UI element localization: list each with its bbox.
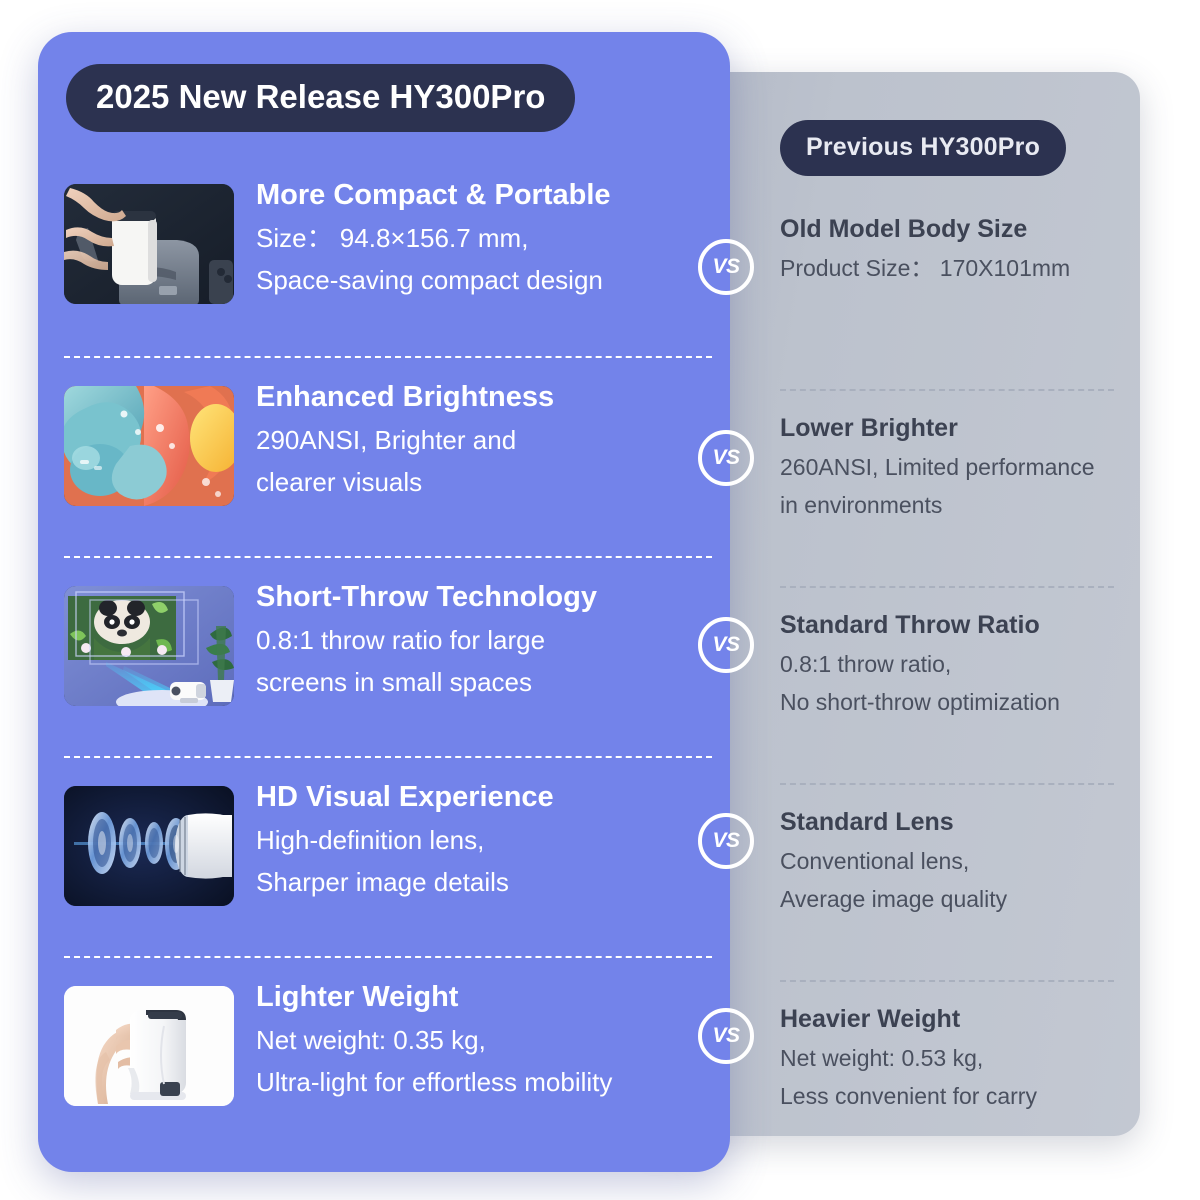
projector-panda-screen-photo bbox=[64, 586, 234, 706]
new-row-line2: screens in small spaces bbox=[256, 661, 597, 703]
new-model-rows: More Compact & Portable Size： 94.8×156.7… bbox=[64, 156, 712, 1156]
new-model-title-pill: 2025 New Release HY300Pro bbox=[66, 64, 575, 132]
previous-row-brightness: Lower Brighter 260ANSI, Limited performa… bbox=[780, 389, 1114, 586]
new-row-line2: Space-saving compact design bbox=[256, 259, 611, 301]
previous-model-rows: Old Model Body Size Product Size： 170X10… bbox=[780, 192, 1114, 1177]
previous-row-line1: Conventional lens, bbox=[780, 843, 1114, 880]
new-row-line1: High-definition lens, bbox=[256, 819, 554, 861]
exploded-lens-assembly-photo bbox=[64, 786, 234, 906]
new-row-size: More Compact & Portable Size： 94.8×156.7… bbox=[64, 156, 712, 356]
previous-row-title: Lower Brighter bbox=[780, 413, 1114, 444]
new-row-line1: Size： 94.8×156.7 mm, bbox=[256, 217, 611, 259]
vs-badge-brightness: VS bbox=[698, 430, 754, 486]
previous-row-throw-ratio: Standard Throw Ratio 0.8:1 throw ratio, … bbox=[780, 586, 1114, 783]
vs-badge-label: VS bbox=[712, 446, 739, 470]
vs-badge-label: VS bbox=[712, 255, 739, 279]
new-row-line1: 0.8:1 throw ratio for large bbox=[256, 619, 597, 661]
new-row-title: More Compact & Portable bbox=[256, 178, 611, 213]
colorful-glossy-flowers-photo bbox=[64, 386, 234, 506]
new-row-weight: Lighter Weight Net weight: 0.35 kg, Ultr… bbox=[64, 956, 712, 1156]
vs-badge-lens: VS bbox=[698, 813, 754, 869]
previous-row-lens: Standard Lens Conventional lens, Average… bbox=[780, 783, 1114, 980]
previous-row-line2: Average image quality bbox=[780, 881, 1114, 918]
new-row-title: Short-Throw Technology bbox=[256, 580, 597, 615]
previous-model-title-pill: Previous HY300Pro bbox=[780, 120, 1066, 176]
vs-badge-throw: VS bbox=[698, 617, 754, 673]
previous-row-line2: No short-throw optimization bbox=[780, 684, 1114, 721]
previous-row-title: Standard Lens bbox=[780, 807, 1114, 838]
previous-row-line1: 0.8:1 throw ratio, bbox=[780, 646, 1114, 683]
previous-row-line1: 260ANSI, Limited performance bbox=[780, 449, 1114, 486]
vs-badge-size: VS bbox=[698, 239, 754, 295]
new-row-line1: Net weight: 0.35 kg, bbox=[256, 1019, 612, 1061]
new-model-panel: 2025 New Release HY300Pro bbox=[38, 32, 730, 1172]
vs-badge-weight: VS bbox=[698, 1008, 754, 1064]
new-row-title: Lighter Weight bbox=[256, 980, 612, 1015]
previous-row-line1: Product Size： 170X101mm bbox=[780, 250, 1114, 287]
previous-row-title: Heavier Weight bbox=[780, 1004, 1114, 1035]
new-row-line2: clearer visuals bbox=[256, 461, 554, 503]
previous-row-title: Standard Throw Ratio bbox=[780, 610, 1114, 641]
new-row-lens: HD Visual Experience High-definition len… bbox=[64, 756, 712, 956]
vs-badge-label: VS bbox=[712, 829, 739, 853]
comparison-infographic: Previous HY300Pro Old Model Body Size Pr… bbox=[0, 0, 1200, 1200]
vs-badge-label: VS bbox=[712, 1024, 739, 1048]
new-row-throw: Short-Throw Technology 0.8:1 throw ratio… bbox=[64, 556, 712, 756]
previous-row-title: Old Model Body Size bbox=[780, 214, 1114, 245]
previous-row-line2: in environments bbox=[780, 487, 1114, 524]
new-row-title: HD Visual Experience bbox=[256, 780, 554, 815]
previous-row-size: Old Model Body Size Product Size： 170X10… bbox=[780, 192, 1114, 389]
new-row-line2: Ultra-light for effortless mobility bbox=[256, 1061, 612, 1103]
projector-in-backpack-photo bbox=[64, 184, 234, 304]
new-row-line1: 290ANSI, Brighter and bbox=[256, 419, 554, 461]
previous-row-weight: Heavier Weight Net weight: 0.53 kg, Less… bbox=[780, 980, 1114, 1177]
previous-row-line2: Less convenient for carry bbox=[780, 1078, 1114, 1115]
new-row-line2: Sharper image details bbox=[256, 861, 554, 903]
new-row-brightness: Enhanced Brightness 290ANSI, Brighter an… bbox=[64, 356, 712, 556]
previous-row-line1: Net weight: 0.53 kg, bbox=[780, 1040, 1114, 1077]
vs-badge-label: VS bbox=[712, 633, 739, 657]
new-row-title: Enhanced Brightness bbox=[256, 380, 554, 415]
hand-holding-projector-photo bbox=[64, 986, 234, 1106]
